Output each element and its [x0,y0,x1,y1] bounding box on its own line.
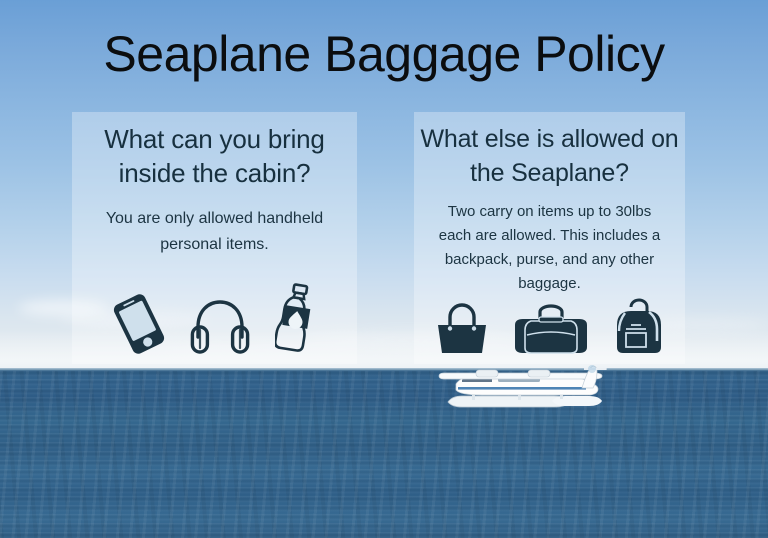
panel-cabin-heading: What can you bring inside the cabin? [72,112,357,190]
panel-baggage: What else is allowed on the Seaplane? Tw… [414,112,685,364]
backpack-icon [609,295,669,362]
panel-cabin-body: You are only allowed handheld personal i… [72,190,357,258]
panel-baggage-icon-row [414,295,685,362]
panel-cabin: What can you bring inside the cabin? You… [72,112,357,364]
page-title: Seaplane Baggage Policy [0,24,768,84]
ocean-background [0,370,768,538]
duffel-bag-icon [511,299,591,362]
horizon-line [0,368,768,371]
panel-baggage-body: Two carry on items up to 30lbs each are … [414,190,685,296]
seaplane-image [432,358,610,414]
headphones-icon [189,297,251,360]
smartphone-icon [113,293,165,360]
purse-icon [431,299,493,362]
panel-cabin-icon-row [72,283,357,360]
poster-canvas: Seaplane Baggage Policy What can you bri… [0,0,768,538]
water-bottle-icon [275,283,317,360]
panel-baggage-heading: What else is allowed on the Seaplane? [414,112,685,190]
